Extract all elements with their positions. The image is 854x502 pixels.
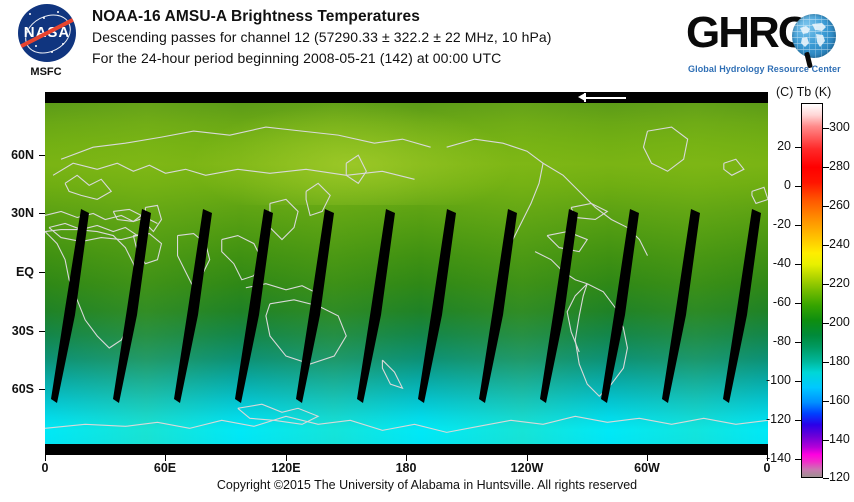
cb-label-m40C: -40	[755, 256, 791, 270]
nasa-meatball-icon: NASA	[18, 4, 76, 62]
lat-tick-30N	[39, 213, 45, 214]
cb-label-280K: 280	[829, 159, 850, 173]
cb-label-160K: 160	[829, 393, 850, 407]
lat-label-60S: 60S	[0, 382, 34, 396]
lon-label-60W: 60W	[627, 461, 667, 475]
nasa-center-label: MSFC	[10, 66, 82, 78]
cb-label-m100C: -100	[749, 373, 791, 387]
cb-tick-m80C	[795, 342, 801, 343]
cb-label-m60C: -60	[755, 295, 791, 309]
ghrc-globe-icon	[792, 14, 836, 58]
cb-label-240K: 240	[829, 237, 850, 251]
cb-label-m80C: -80	[755, 334, 791, 348]
lon-label-120E: 120E	[263, 461, 309, 475]
cb-tick-0C	[795, 186, 801, 187]
cb-tick-m40C	[795, 264, 801, 265]
colorbar-header: (C) Tb (K)	[776, 85, 831, 99]
cb-tick-20C	[795, 147, 801, 148]
cb-label-140K: 140	[829, 432, 850, 446]
cb-label-220K: 220	[829, 276, 850, 290]
cb-label-m140C: -140	[749, 451, 791, 465]
colorbar	[801, 103, 823, 478]
lat-label-30N: 30N	[0, 206, 34, 220]
cb-tick-m60C	[795, 303, 801, 304]
cb-label-180K: 180	[829, 354, 850, 368]
ghrc-wordmark: GHRC	[686, 8, 808, 58]
title-block: NOAA-16 AMSU-A Brightness Temperatures D…	[92, 6, 672, 69]
lat-tick-60S	[39, 389, 45, 390]
lat-tick-60N	[39, 155, 45, 156]
lon-label-120W: 120W	[504, 461, 550, 475]
lat-label-60N: 60N	[0, 148, 34, 162]
descending-node-marker-icon	[578, 92, 626, 103]
cb-tick-m100C	[795, 381, 801, 382]
brightness-temperature-map	[45, 103, 768, 444]
lat-tick-30S	[39, 331, 45, 332]
cb-tick-m20C	[795, 225, 801, 226]
page-header: NASA MSFC NOAA-16 AMSU-A Brightness Temp…	[0, 0, 854, 92]
cb-tick-m120C	[795, 420, 801, 421]
ghrc-logo: GHRC Global Hydrology Resource Center	[686, 6, 846, 82]
subtitle-channel: Descending passes for channel 12 (57290.…	[92, 27, 672, 48]
lon-label-0: 0	[25, 461, 65, 475]
ghrc-tagline: Global Hydrology Resource Center	[688, 64, 841, 74]
lat-tick-EQ	[39, 272, 45, 273]
cb-tick-m140C	[795, 459, 801, 460]
page-title: NOAA-16 AMSU-A Brightness Temperatures	[92, 6, 672, 27]
lon-label-60E: 60E	[145, 461, 185, 475]
cb-label-m20C: -20	[755, 217, 791, 231]
swath-gap-overlay	[45, 103, 768, 444]
lat-label-30S: 30S	[0, 324, 34, 338]
cb-label-260K: 260	[829, 198, 850, 212]
tb-field	[45, 103, 768, 444]
cb-label-0C: 0	[755, 178, 791, 192]
map-plot-frame	[45, 92, 768, 455]
lon-label-180: 180	[386, 461, 426, 475]
globe-continents	[792, 14, 836, 58]
cb-label-20C: 20	[755, 139, 791, 153]
lat-label-EQ: EQ	[0, 265, 34, 279]
cb-label-200K: 200	[829, 315, 850, 329]
copyright-notice: Copyright ©2015 The University of Alabam…	[0, 478, 854, 492]
nasa-logo: NASA MSFC	[10, 4, 82, 88]
subtitle-period: For the 24-hour period beginning 2008-05…	[92, 48, 672, 69]
cb-label-300K: 300	[829, 120, 850, 134]
colorbar-gradient	[802, 104, 822, 477]
cb-label-m120C: -120	[749, 412, 791, 426]
